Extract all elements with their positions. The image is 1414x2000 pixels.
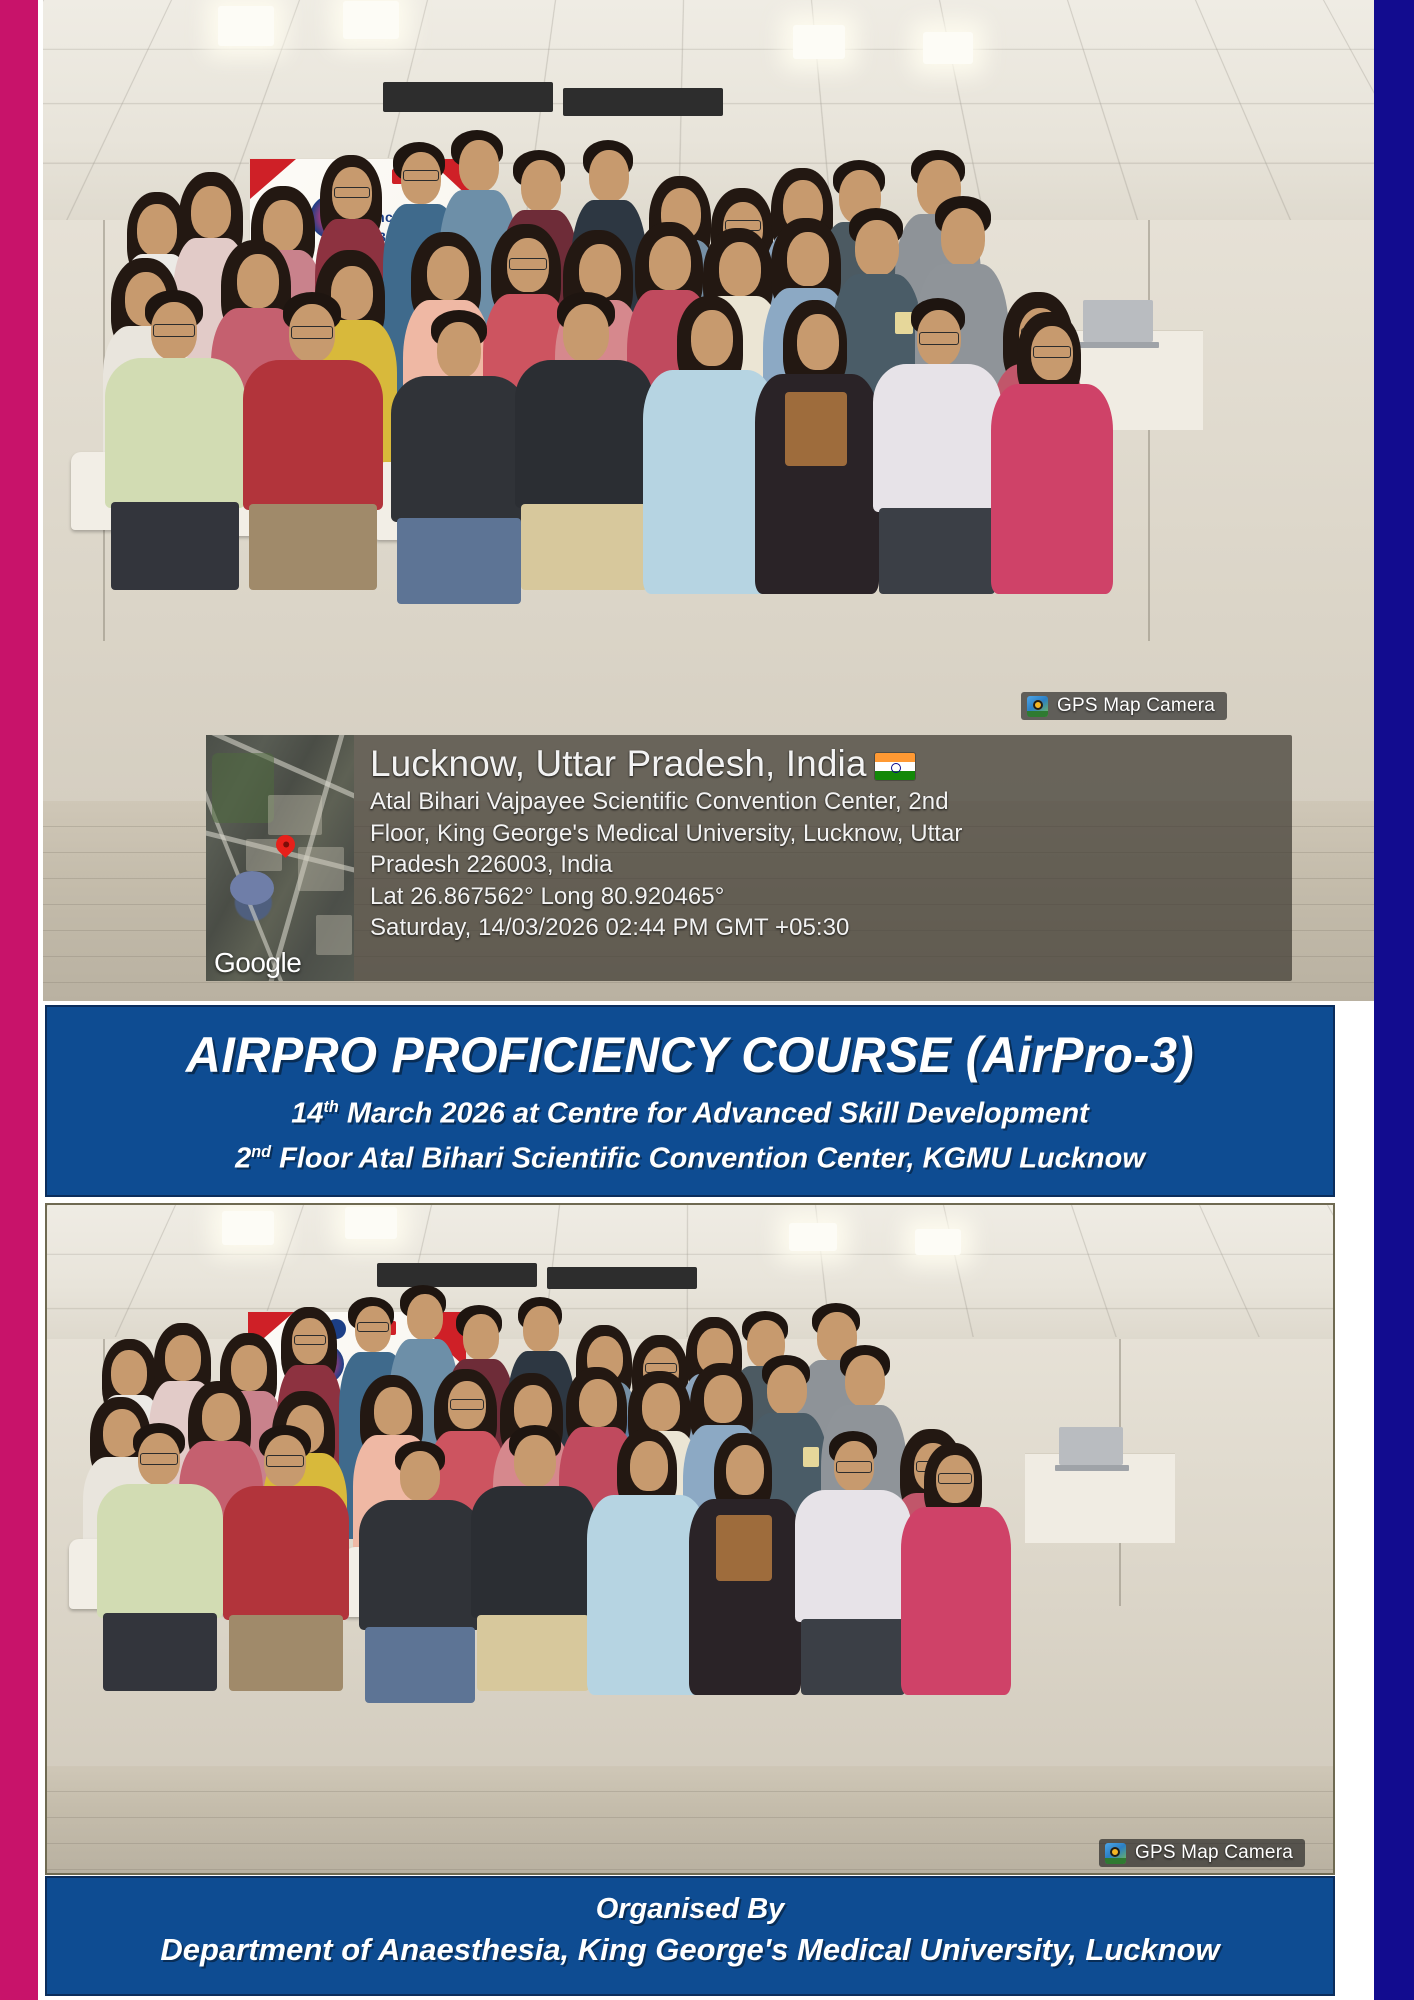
person-b-front-7 [795, 1431, 911, 1695]
person-front-7 [873, 298, 1001, 594]
gps-text-block: Lucknow, Uttar Pradesh, India Atal Bihar… [354, 735, 1292, 981]
india-flag-icon [875, 753, 915, 780]
ceiling-light-b1 [222, 1211, 274, 1245]
right-border-stripe [1374, 0, 1414, 2000]
projector-bar-1 [383, 82, 553, 112]
venue-floor-number: 2 [235, 1142, 251, 1174]
ceiling-light-b4 [915, 1229, 961, 1255]
course-title: AIRPRO PROFICIENCY COURSE (AirPro-3) [66, 1027, 1313, 1083]
gps-address-line-1: Atal Bihari Vajpayee Scientific Conventi… [370, 786, 1282, 818]
person-b-front-1 [97, 1423, 223, 1691]
person-b-front-3 [359, 1441, 481, 1695]
ceiling-light-2 [343, 1, 399, 39]
group-photo-top: ency Cou 3 2026 [43, 0, 1374, 1001]
person-front-3 [391, 310, 527, 594]
gps-info-panel: Google Lucknow, Uttar Pradesh, India Ata… [206, 735, 1292, 981]
gps-timestamp: Saturday, 14/03/2026 02:44 PM GMT +05:30 [370, 912, 1282, 944]
gps-address-line-3: Pradesh 226003, India [370, 849, 1282, 881]
person-front-4 [515, 292, 653, 592]
left-border-stripe [0, 0, 38, 2000]
google-watermark: Google [214, 947, 301, 979]
projector-bar-2 [563, 88, 723, 116]
organised-by-label: Organised By [47, 1891, 1333, 1928]
ceiling-light-1 [218, 6, 274, 46]
projector-bar-b1 [377, 1263, 537, 1287]
map-building-4 [316, 915, 352, 955]
footer-banner: Organised By Department of Anaesthesia, … [45, 1876, 1335, 1996]
poster-content: ency Cou 3 2026 [43, 0, 1374, 2000]
gps-badge-label-2: GPS Map Camera [1135, 1842, 1293, 1864]
ceiling-light-b2 [345, 1207, 397, 1239]
ceiling-light-4 [923, 32, 973, 64]
gps-map-camera-badge-bottom: GPS Map Camera [1099, 1839, 1305, 1867]
projector-bar-b2 [547, 1267, 697, 1289]
person-front-1 [105, 290, 245, 590]
gps-coordinates: Lat 26.867562° Long 80.920465° [370, 881, 1282, 913]
gps-map-camera-app-icon-2 [1105, 1843, 1126, 1864]
person-front-2 [243, 292, 383, 590]
person-b-front-8 [901, 1443, 1011, 1695]
person-front-8 [991, 312, 1113, 594]
gps-badge-label: GPS Map Camera [1057, 695, 1215, 717]
course-date-line: 14th March 2026 at Centre for Advanced S… [47, 1088, 1333, 1133]
laptop-2 [1059, 1427, 1123, 1465]
ceiling-light-3 [793, 25, 845, 59]
title-banner: AIRPRO PROFICIENCY COURSE (AirPro-3) 14t… [45, 1005, 1335, 1197]
person-b-front-4 [471, 1425, 595, 1693]
laptop-base-2 [1055, 1465, 1129, 1471]
gps-city-text: Lucknow, Uttar Pradesh, India [370, 743, 867, 784]
venue-rest: Floor Atal Bihari Scientific Convention … [271, 1142, 1145, 1174]
person-b-front-6 [689, 1433, 801, 1695]
date-ordinal-suffix: th [323, 1098, 338, 1116]
map-building-3 [298, 847, 344, 891]
poster-page: ency Cou 3 2026 [0, 0, 1414, 2000]
map-green-area [212, 753, 274, 823]
group-photo-bottom: ency Cou 3 2026 [45, 1203, 1335, 1875]
venue-ordinal-suffix: nd [251, 1143, 271, 1161]
course-venue-line: 2nd Floor Atal Bihari Scientific Convent… [47, 1133, 1333, 1178]
organiser-name: Department of Anaesthesia, King George's… [47, 1930, 1333, 1970]
gps-address-line-2: Floor, King George's Medical University,… [370, 818, 1282, 850]
person-b-front-2 [223, 1425, 349, 1691]
gps-map-camera-badge-top: GPS Map Camera [1021, 692, 1227, 720]
person-front-6 [755, 300, 879, 594]
map-building-1 [268, 795, 322, 835]
wall-corner-right [1148, 220, 1150, 640]
date-day: 14 [291, 1098, 323, 1130]
ceiling-light-b3 [789, 1223, 837, 1251]
date-rest: March 2026 at Centre for Advanced Skill … [339, 1098, 1089, 1130]
gps-city-line: Lucknow, Uttar Pradesh, India [370, 741, 1282, 786]
gps-map-camera-app-icon [1027, 696, 1048, 717]
gps-map-thumbnail: Google [206, 735, 354, 981]
map-pond [230, 871, 274, 905]
